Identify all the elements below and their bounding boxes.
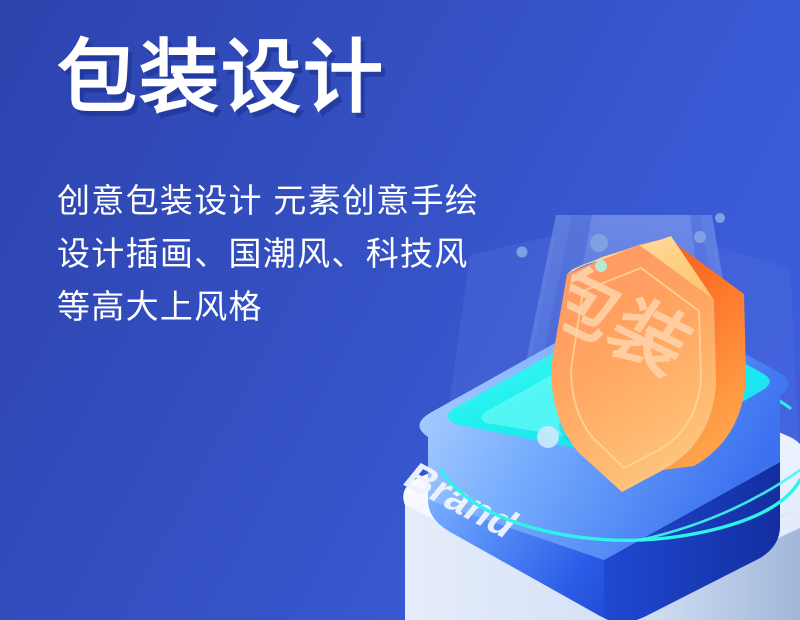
dot-5-icon: [696, 304, 709, 317]
orbit-ring-streak: [640, 470, 800, 540]
shield-contact-shadow: [557, 385, 705, 459]
subtitle-line-1: 创意包装设计 元素创意手绘: [57, 174, 577, 227]
orbit-ring-back: [435, 372, 790, 470]
base-plate-top: [403, 386, 800, 606]
subtitle-line-2: 设计插画、国潮风、科技风: [57, 227, 577, 280]
shield-inner-outline: [571, 268, 701, 468]
dot-7-icon: [537, 426, 559, 448]
podium-top-inner-glow: [481, 332, 743, 450]
base-plate-side: [403, 386, 800, 620]
page-title: 包装设计: [57, 38, 577, 118]
dot-6-icon: [595, 260, 607, 272]
shield-top-bevel-plate-b: [567, 236, 714, 300]
light-beam-edge-right: [700, 215, 762, 508]
banner-root: 包装 Brand 包装设计 创意包装设计 元素创意手绘 设计插画、国潮风、科技风…: [0, 0, 800, 620]
shield-top-bevel-2: [573, 238, 668, 268]
podium-right-face: [604, 462, 780, 620]
dot-4-icon: [715, 213, 725, 223]
light-beam-side-right: [712, 245, 800, 470]
dot-1-icon: [590, 234, 608, 252]
subtitle-line-3: 等高大上风格: [57, 280, 577, 333]
podium-rim: [419, 303, 788, 561]
shield-top-bevel: [573, 238, 668, 268]
shield-top-bevel-plate: [567, 236, 671, 274]
base-plate-contour-2: [488, 478, 786, 559]
podium-top-glow: [448, 311, 770, 461]
subtitle-block: 创意包装设计 元素创意手绘 设计插画、国潮风、科技风 等高大上风格: [57, 118, 577, 333]
shield-side-face: [639, 238, 746, 470]
podium-brand-label: Brand: [395, 454, 528, 545]
orbit-ring-front: [441, 470, 800, 540]
podium-front-face: [428, 437, 780, 620]
base-plate-contour: [458, 485, 790, 581]
podium-group: [419, 303, 788, 620]
base-plate-group: [403, 386, 800, 620]
text-block: 包装设计 创意包装设计 元素创意手绘 设计插画、国潮风、科技风 等高大上风格: [57, 38, 577, 333]
dot-3-icon: [694, 231, 706, 243]
